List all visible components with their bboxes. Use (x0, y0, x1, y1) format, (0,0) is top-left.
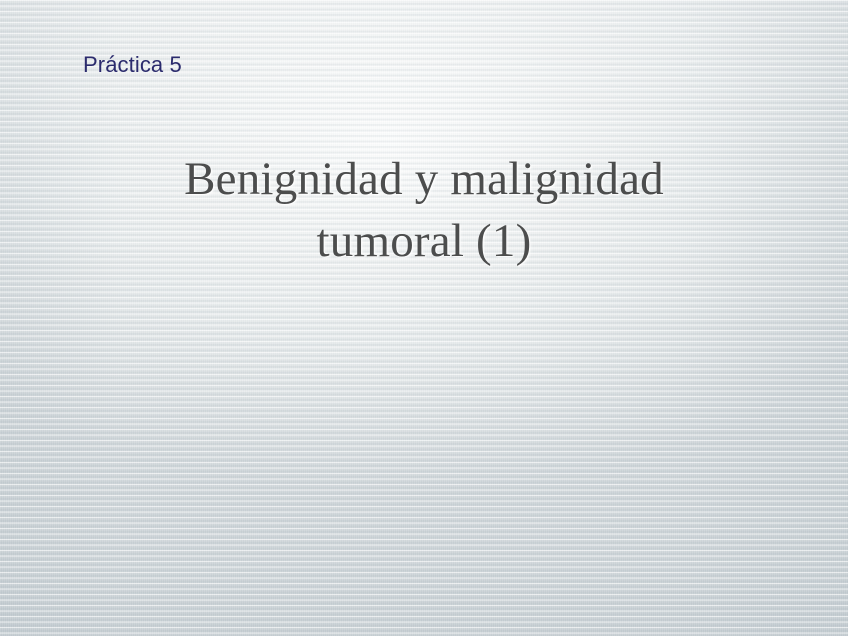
slide-eyebrow-label: Práctica 5 (83, 52, 182, 78)
presentation-slide: Práctica 5 Benignidad y malignidad tumor… (0, 0, 848, 636)
page-title: Benignidad y malignidad tumoral (1) (70, 148, 778, 272)
slide-title-line-1: Benignidad y malignidad (70, 148, 778, 210)
slide-background-weave (0, 0, 848, 636)
slide-title-line-2: tumoral (1) (70, 210, 778, 272)
slide-title-block: Benignidad y malignidad tumoral (1) (0, 148, 848, 272)
